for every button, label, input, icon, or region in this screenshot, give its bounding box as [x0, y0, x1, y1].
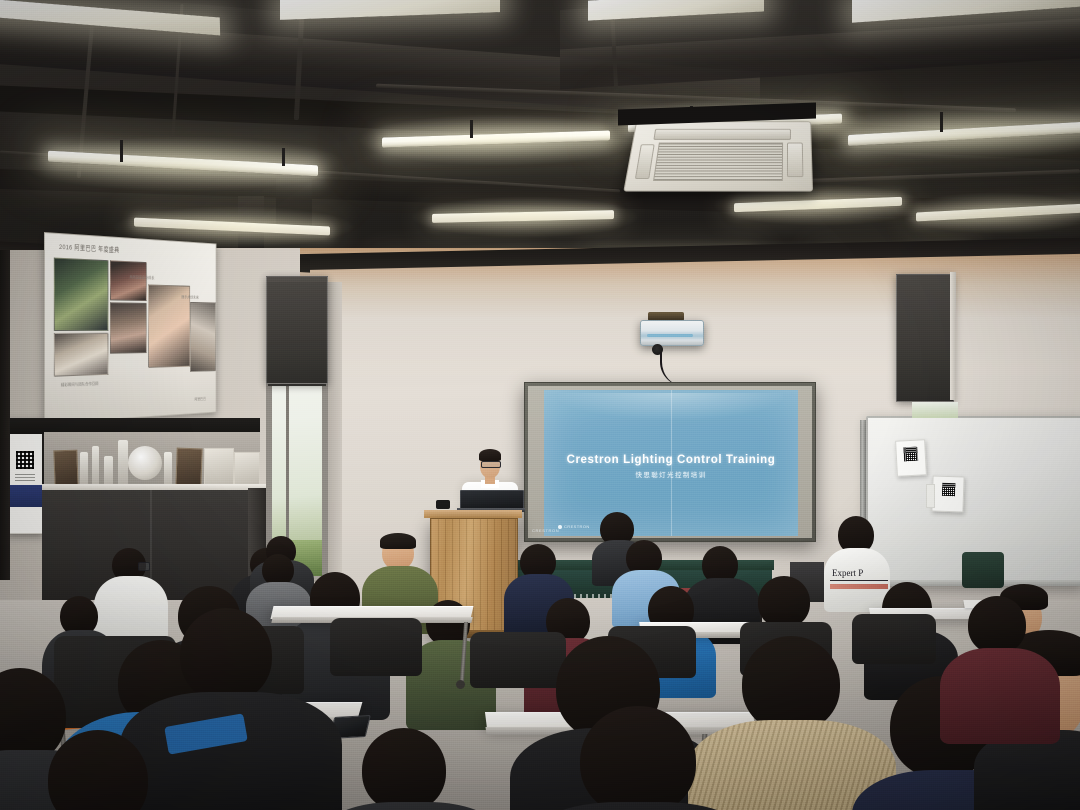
fluorescent-tube — [382, 130, 610, 147]
hoodie-graphic-line — [830, 580, 888, 581]
qr-code-icon — [903, 447, 918, 462]
presenter-glasses — [481, 461, 501, 468]
award-plaque — [175, 448, 202, 489]
audience-head — [758, 576, 810, 628]
fluorescent-tube — [432, 210, 614, 223]
slide-logo-text: CRESTRON — [564, 524, 590, 529]
audience-body — [940, 648, 1060, 744]
qr-poster — [6, 420, 44, 534]
hoodie-graphic-text: Expert P — [832, 568, 863, 578]
projection-screen-surround: Crestron Lighting Control Training 快思聪灯光… — [528, 386, 812, 538]
desk-caster — [456, 680, 465, 689]
banner-photo — [110, 302, 147, 354]
podium-top — [424, 510, 522, 518]
banner-caption-right: 携手共创未来 — [181, 295, 198, 301]
event-banner: 2016 阿里巴巴 年度盛典 共同见证企业成长 携手共创未来 精彩瞬间与团队合作… — [44, 232, 216, 424]
wall-panel-edge — [950, 272, 956, 400]
projector — [640, 320, 704, 346]
projected-slide: Crestron Lighting Control Training 快思聪灯光… — [544, 390, 798, 536]
poster-caption — [15, 473, 35, 481]
ac-vane — [653, 129, 791, 140]
audience-body — [120, 692, 342, 810]
award-plaque — [234, 452, 260, 486]
poster-band — [7, 485, 43, 507]
ac-vane — [787, 143, 803, 178]
podium-microphone — [436, 500, 450, 509]
ceiling-light-panel — [280, 0, 500, 20]
presenter-hair — [479, 449, 501, 461]
wall-speaker-panel — [896, 274, 954, 402]
whiteboard-note[interactable] — [895, 439, 927, 477]
trophy — [104, 456, 113, 486]
trophy — [92, 446, 99, 486]
banner-title: 2016 阿里巴巴 年度盛典 — [59, 241, 119, 254]
whiteboard-note[interactable] — [931, 475, 964, 512]
audience-glasses — [138, 562, 150, 571]
banner-photo — [54, 257, 109, 330]
banner-photo — [190, 302, 216, 372]
wall-strip — [328, 282, 342, 582]
laptop-screen[interactable] — [460, 490, 524, 510]
audience-head — [180, 608, 272, 702]
screen-brand-label: CRESTRON — [532, 528, 559, 533]
whiteboard-note-edge — [926, 484, 935, 508]
award-plaque — [204, 448, 234, 486]
chair — [470, 632, 566, 688]
qr-code-icon — [942, 483, 955, 496]
audience-head — [362, 728, 446, 810]
trophy — [164, 452, 172, 486]
award-plaque — [53, 450, 78, 489]
light-hanger — [940, 112, 943, 132]
banner-photo — [54, 333, 109, 377]
classroom-photo-scene: 2016 阿里巴巴 年度盛典 共同见证企业成长 携手共创未来 精彩瞬间与团队合作… — [0, 0, 1080, 810]
light-hanger — [282, 148, 285, 166]
audience-head — [742, 636, 840, 732]
wall-acoustic-panel — [266, 276, 328, 384]
light-hanger — [470, 120, 473, 138]
audience-hair — [380, 533, 416, 549]
light-hanger — [120, 140, 123, 162]
hoodie-graphic-stripe — [830, 584, 888, 589]
chair — [330, 618, 422, 676]
trophy — [80, 452, 88, 486]
audience-head — [968, 596, 1026, 654]
wall-column — [0, 250, 10, 580]
ac-grille — [653, 143, 783, 181]
award-disc — [128, 446, 162, 480]
banner-photo — [110, 260, 147, 301]
slide-title: Crestron Lighting Control Training — [567, 454, 776, 466]
projector-stripe — [647, 334, 693, 337]
side-chair — [962, 552, 1004, 588]
qr-code-icon — [16, 451, 34, 469]
projection-screen-frame: Crestron Lighting Control Training 快思聪灯光… — [524, 382, 816, 542]
slide-logo: CRESTRON — [558, 524, 590, 529]
slide-subtitle: 快思聪灯光控制培训 — [635, 469, 706, 479]
ac-vane — [635, 144, 655, 179]
banner-footer: 阿里巴巴 — [194, 396, 205, 402]
ac-cassette-unit — [623, 121, 813, 191]
chair — [852, 614, 936, 664]
trophy — [118, 440, 128, 486]
banner-caption-left: 精彩瞬间与团队合作回顾 — [61, 381, 99, 388]
window-sliver — [912, 402, 958, 418]
audience-head — [580, 706, 696, 810]
banner-caption-mid: 共同见证企业成长 — [129, 274, 154, 281]
